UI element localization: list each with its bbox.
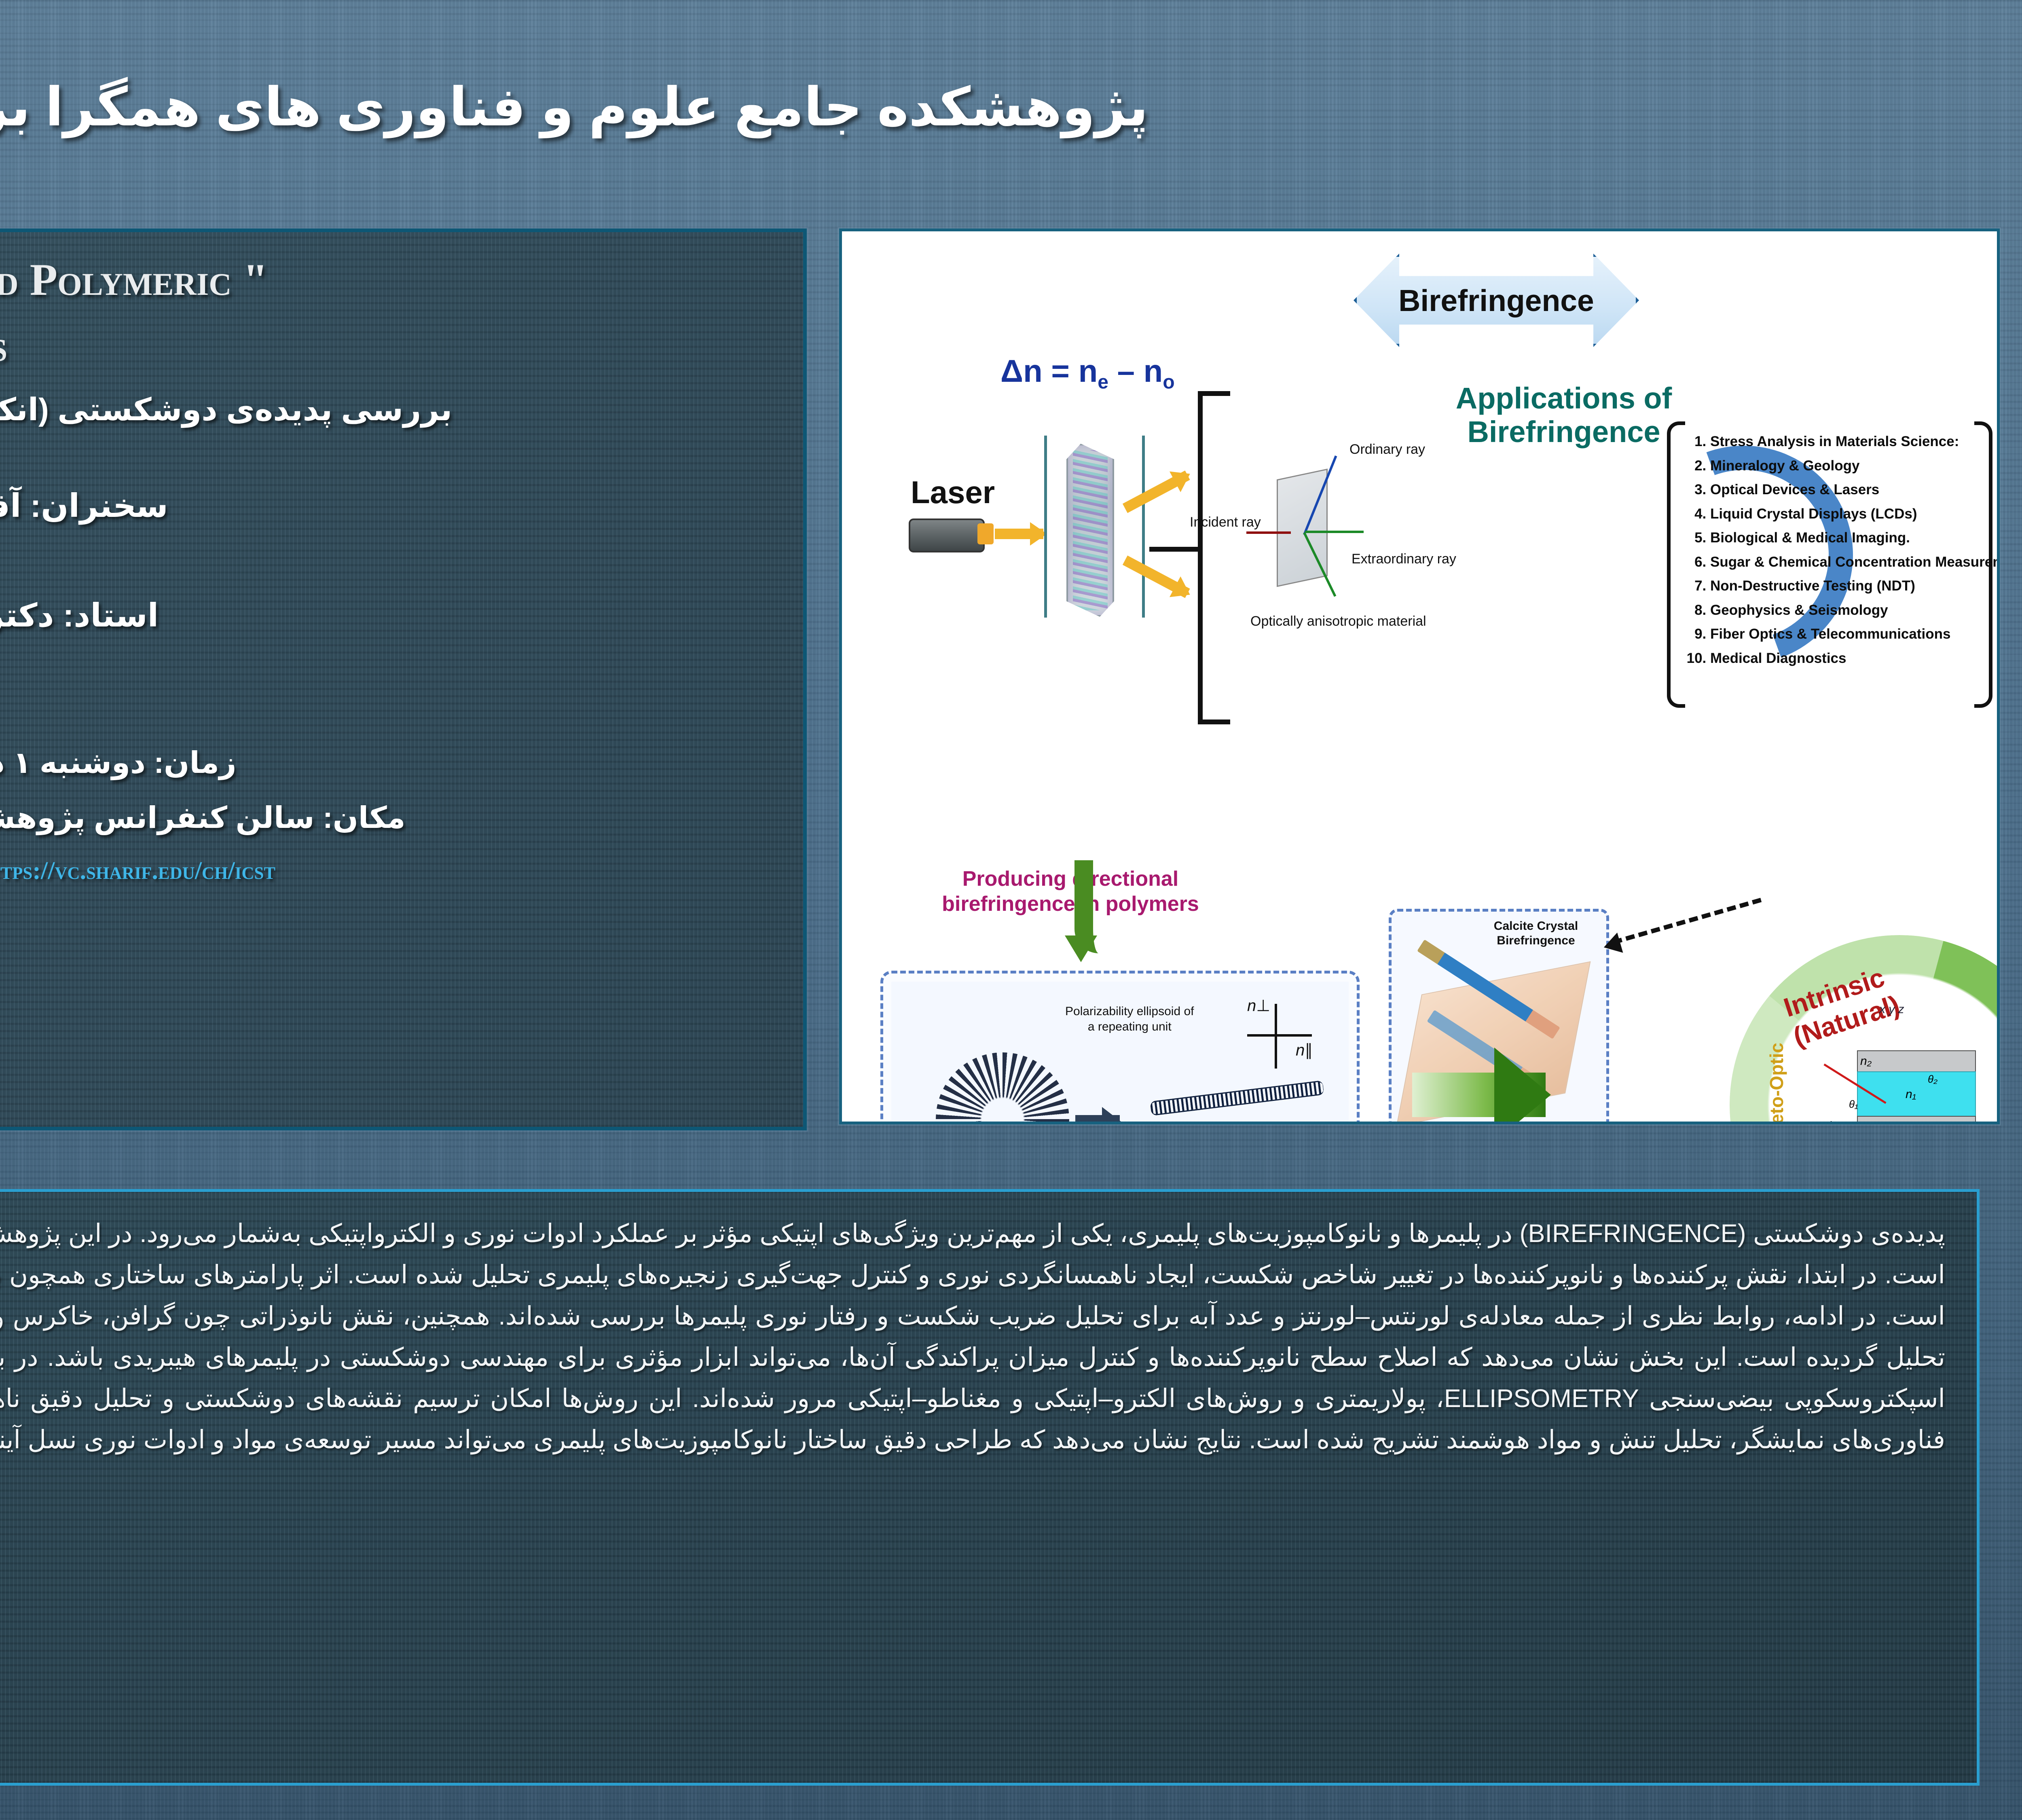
extraordinary-ray-label: Extraordinary ray [1352,551,1456,567]
output-beam-1-icon [1123,470,1190,513]
application-item: Sugar & Chemical Concentration Measureme… [1710,550,1992,574]
output-beam-2-icon [1123,556,1190,598]
english-title: Birefringence in Polymers and Polymeric … [0,252,803,373]
header-title: پژوهشکده جامع علوم و فناوری های همگرا بر… [0,76,1148,138]
professor-line: استاد: دکتر محمد ایمانی [0,597,730,634]
virtual-room-line: https://vc.sharif.edu/ch/icstاتاق مجازی … [0,852,730,887]
laser-body-icon [909,518,985,552]
dn-eq-sub-e: e [1098,372,1108,393]
oriented-chain-1-icon [1150,1080,1324,1116]
applications-title-line2: Birefringence [1445,415,1683,449]
inset-label-n2-top: n₂ [1860,1054,1872,1068]
incident-ray-label: Incident ray [1190,514,1261,530]
place-line: مکان: سالن کنفرانس پژوهشکده جامع علوم و … [0,800,730,835]
polarizability-label: Polarizability ellipsoid of a repeating … [1065,1004,1194,1034]
axis-horizontal-icon [1247,1034,1312,1037]
anisotropic-slab-icon [1277,469,1328,587]
drawing-arrow-icon [1075,1115,1120,1124]
crystal-sample-icon [1066,444,1114,617]
persian-subtitle: بررسی پدیده‌ی دوشکستی (انکسار مضاعف) در … [0,392,803,428]
incident-ray-icon [1246,531,1291,534]
laser-label: Laser [911,474,995,511]
virtual-room-link[interactable]: https://vc.sharif.edu/ch/icst [0,857,275,885]
producing-line2: birefringence in polymers [903,891,1238,916]
layer-middle-icon [1857,1071,1976,1117]
refraction-inset: n₂ n₁ n₂ nair θ₁ θ₂ x y z [1841,1034,1974,1124]
application-item: Liquid Crystal Displays (LCDs) [1710,502,1992,526]
ordinary-ray-label: Ordinary ray [1349,442,1425,457]
inset-label-theta2: θ₂ [1928,1073,1937,1086]
layer-bottom-icon [1857,1116,1976,1124]
birefringence-banner-label: Birefringence [1398,283,1594,318]
birefringence-banner: Birefringence [1354,254,1639,347]
producing-birefringence-text: Producing directional birefringence in p… [903,866,1238,917]
calcite-caption: Calcite Crystal Birefringence [1475,919,1597,948]
applications-title-line1: Applications of [1445,382,1683,415]
polymer-orientation-box: Polarizability ellipsoid of a repeating … [880,971,1360,1124]
announcement-panel: Birefringence in Polymers and Polymeric … [0,229,807,1130]
application-item: Optical Devices & Lasers [1710,478,1992,502]
poster-header: پژوهشکده جامع علوم و فناوری های همگرا بر… [0,0,2022,214]
application-item: Fiber Optics & Telecommunications [1710,622,1992,646]
polarizer-line-1 [1044,436,1047,618]
applications-list: Stress Analysis in Materials Science:Min… [1685,430,1992,670]
n-perpendicular-label: n⊥ [1247,996,1270,1016]
inset-axes-label: x y z [1879,1003,1904,1016]
application-item: Stress Analysis in Materials Science: [1710,430,1992,454]
dn-eq-part1: Δn = n [1000,353,1098,389]
zoom-bracket-stem [1149,547,1202,552]
green-ray-1-icon [1305,531,1364,533]
inset-label-theta1: θ₁ [1849,1098,1858,1111]
producing-line1: Producing directional [903,866,1238,891]
layer-top-icon [1857,1050,1976,1073]
event-details: سخنران: آقای علی برچلو استاد: دکتر محمد … [0,487,730,887]
speaker-line: سخنران: آقای علی برچلو [0,487,730,525]
laser-tip-icon [977,523,994,544]
english-title-line1: Birefringence in Polymers and Polymeric … [0,252,755,308]
laser-beam-icon [995,529,1043,539]
application-item: Geophysics & Seismology [1710,598,1992,622]
inset-label-n2-bottom: n₂ [1860,1120,1872,1124]
inset-label-nair: nair [1817,1119,1835,1124]
application-item: Mineralogy & Geology [1710,454,1992,478]
methods-green-arrow-icon [1412,1073,1546,1117]
n-parallel-label: n∥ [1296,1040,1313,1060]
ring-label-magneto-optic: Magneto-Optic [1766,1043,1787,1124]
figure-panel: Birefringence Δn = ne – no Laser Ordinar… [839,229,2000,1124]
brace-left-icon [1667,421,1685,708]
green-curved-arrow-icon [1074,860,1146,953]
dn-eq-part2: – n [1108,353,1163,389]
dashed-pointer-arrow-icon [1613,898,1762,944]
inset-label-n1: n₁ [1906,1088,1916,1101]
delta-n-equation: Δn = ne – no [1000,353,1175,394]
english-title-line2: "Nanocomposites [0,318,755,374]
time-line: زمان: دوشنبه ۱ دی ماه- ساعت ۱۳:۳۰ [0,745,730,780]
zoom-bracket [1198,391,1230,724]
application-item: Medical Diagnostics [1710,646,1992,671]
optically-anisotropic-label: Optically anisotropic material [1250,614,1426,629]
dn-eq-sub-o: o [1163,372,1174,393]
polarizer-line-2 [1142,436,1145,618]
random-coil-icon [936,1052,1069,1124]
applications-title: Applications of Birefringence [1445,382,1683,449]
application-item: Biological & Medical Imaging. [1710,526,1992,550]
abstract-box: پدیده‌ی دوشکستی (BIREFRINGENCE) در پلیمر… [0,1189,1980,1786]
application-item: Non-Destructive Testing (NDT) [1710,574,1992,598]
